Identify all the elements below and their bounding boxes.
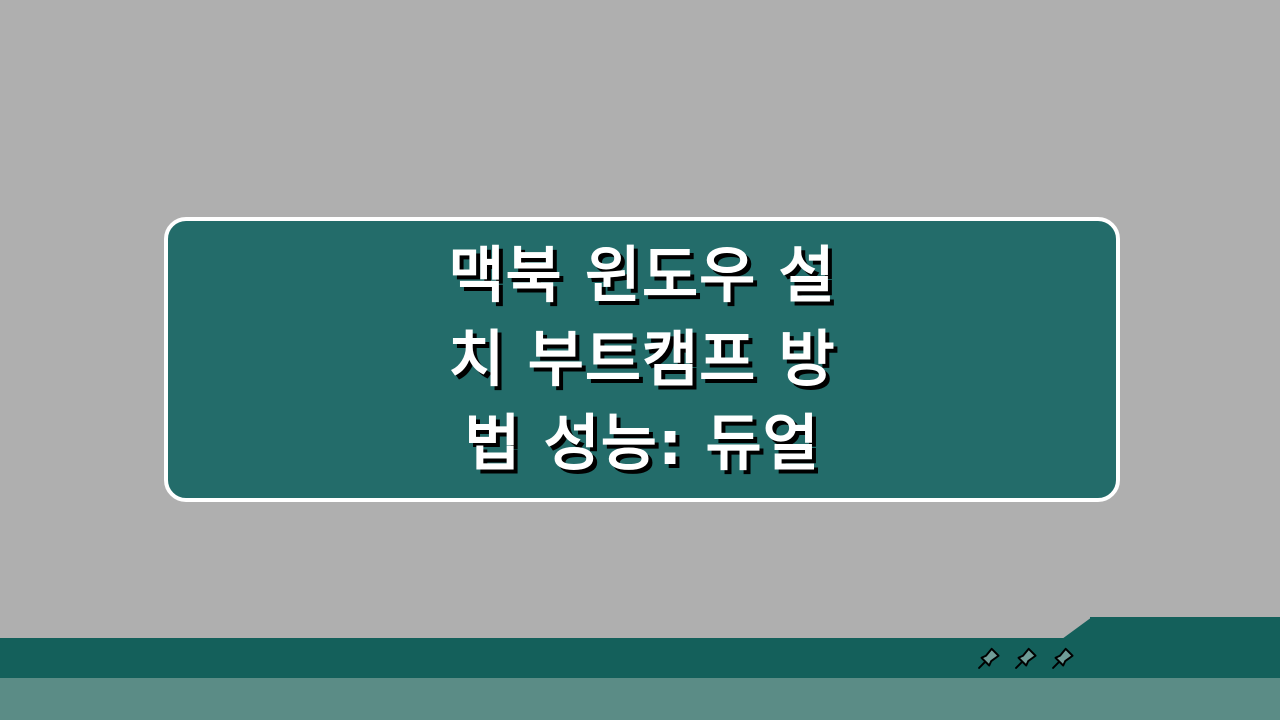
- title-line-3: 법 성능: 듀얼: [464, 402, 819, 486]
- title-line-2: 치 부트캠프 방: [448, 318, 835, 402]
- footer-lower-band: [0, 678, 1280, 720]
- footer-band-raised-block: [1090, 617, 1280, 678]
- footer-decoration-row: [975, 644, 1075, 674]
- title-card: 맥북 윈도우 설 치 부트캠프 방 법 성능: 듀얼: [164, 217, 1120, 502]
- footer-band: [0, 638, 1280, 678]
- slide-canvas: 맥북 윈도우 설 치 부트캠프 방 법 성능: 듀얼: [0, 0, 1280, 720]
- pushpin-icon: [1049, 646, 1075, 672]
- pushpin-icon: [975, 646, 1001, 672]
- pushpin-icon: [1012, 646, 1038, 672]
- title-line-1: 맥북 윈도우 설: [448, 234, 835, 318]
- footer-band-ramp: [1062, 617, 1092, 639]
